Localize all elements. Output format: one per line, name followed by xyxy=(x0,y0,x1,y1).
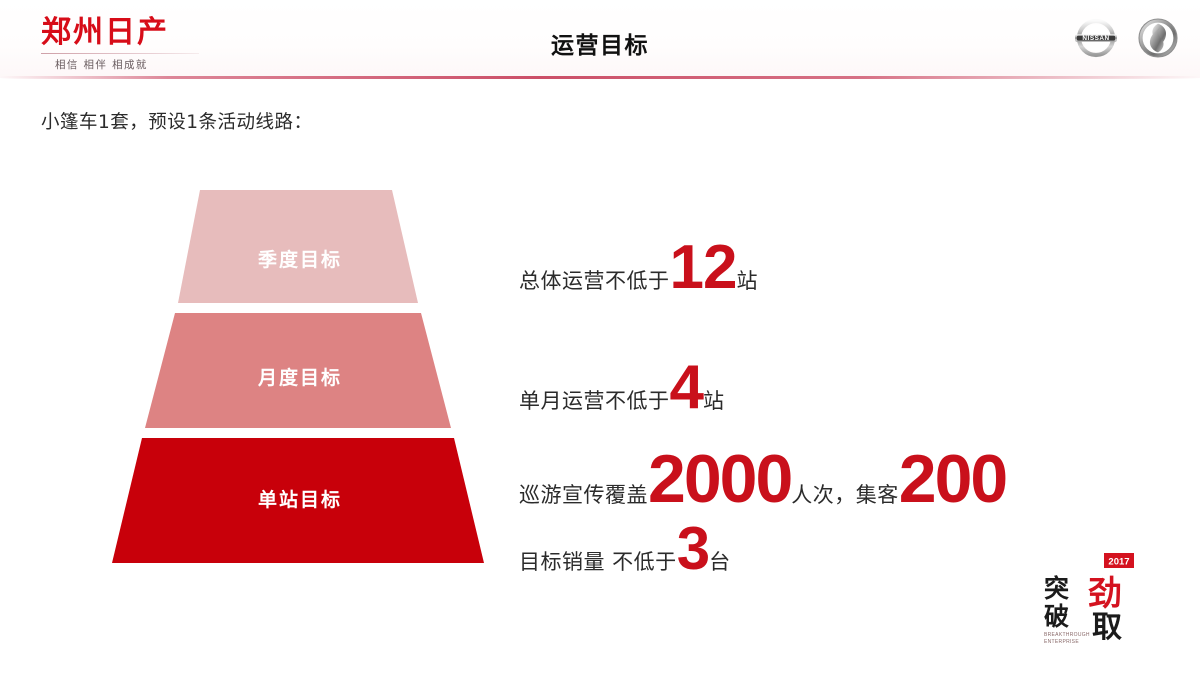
slide-canvas: 郑州日产 相信 相伴 相成就 运营目标 xyxy=(0,0,1200,675)
campaign-cn-left-1: 突 xyxy=(1044,574,1069,603)
campaign-logo: 2017 突 破 劲 取 BREAKTHROUGH ENTERPRISE xyxy=(1036,551,1154,647)
goal-suffix-sales: 台 xyxy=(709,550,731,574)
campaign-en-line2: ENTERPRISE xyxy=(1044,639,1079,645)
goal-value-month: 4 xyxy=(670,353,703,422)
goal-suffix-month: 站 xyxy=(703,389,725,413)
page-title: 运营目标 xyxy=(0,26,1200,60)
subtitle-text: 小篷车1套，预设1条活动线路： xyxy=(41,108,313,134)
goal-prefix-coverage: 巡游宣传覆盖 xyxy=(519,483,648,507)
dongfeng-logo-icon xyxy=(1134,14,1182,62)
goal-line-month: 单月运营不低于4站 xyxy=(519,352,724,423)
goal-line-quarter: 总体运营不低于12站 xyxy=(519,232,758,303)
brand-emblems: NISSAN xyxy=(1072,14,1182,62)
pyramid-label-month: 月度目标 xyxy=(100,363,500,390)
goal-prefix-quarter: 总体运营不低于 xyxy=(519,269,670,293)
slide-header: 郑州日产 相信 相伴 相成就 运营目标 xyxy=(0,0,1200,78)
goal-text-block: 总体运营不低于12站 单月运营不低于4站 巡游宣传覆盖2000人次，集客200 … xyxy=(519,196,1159,566)
campaign-year-text: 2017 xyxy=(1108,557,1129,568)
campaign-cn-left-2: 破 xyxy=(1044,602,1069,631)
campaign-cn-right-2: 取 xyxy=(1092,610,1122,645)
goal-line-sales: 目标销量 不低于3台 xyxy=(519,514,731,583)
goal-prefix-sales: 目标销量 不低于 xyxy=(519,550,677,574)
goal-value-coverage: 2000 xyxy=(648,441,791,517)
goal-value-sales: 3 xyxy=(677,515,709,582)
goal-suffix-quarter: 站 xyxy=(736,269,758,293)
goal-line-coverage: 巡游宣传覆盖2000人次，集客200 xyxy=(519,440,1006,518)
goal-value-quarter: 12 xyxy=(670,233,737,302)
svg-text:NISSAN: NISSAN xyxy=(1082,35,1109,42)
nissan-logo-icon: NISSAN xyxy=(1072,14,1120,62)
campaign-cn-right-1: 劲 xyxy=(1088,574,1122,614)
pyramid-label-quarter: 季度目标 xyxy=(100,245,500,272)
goal-middle-coverage: 人次，集客 xyxy=(791,483,899,507)
pyramid-label-station: 单站目标 xyxy=(100,485,500,512)
header-divider xyxy=(0,76,1200,79)
goal-value-customers: 200 xyxy=(899,441,1006,517)
campaign-en-line1: BREAKTHROUGH xyxy=(1044,632,1090,638)
goal-prefix-month: 单月运营不低于 xyxy=(519,389,670,413)
goal-pyramid: 季度目标 月度目标 单站目标 xyxy=(100,185,500,575)
